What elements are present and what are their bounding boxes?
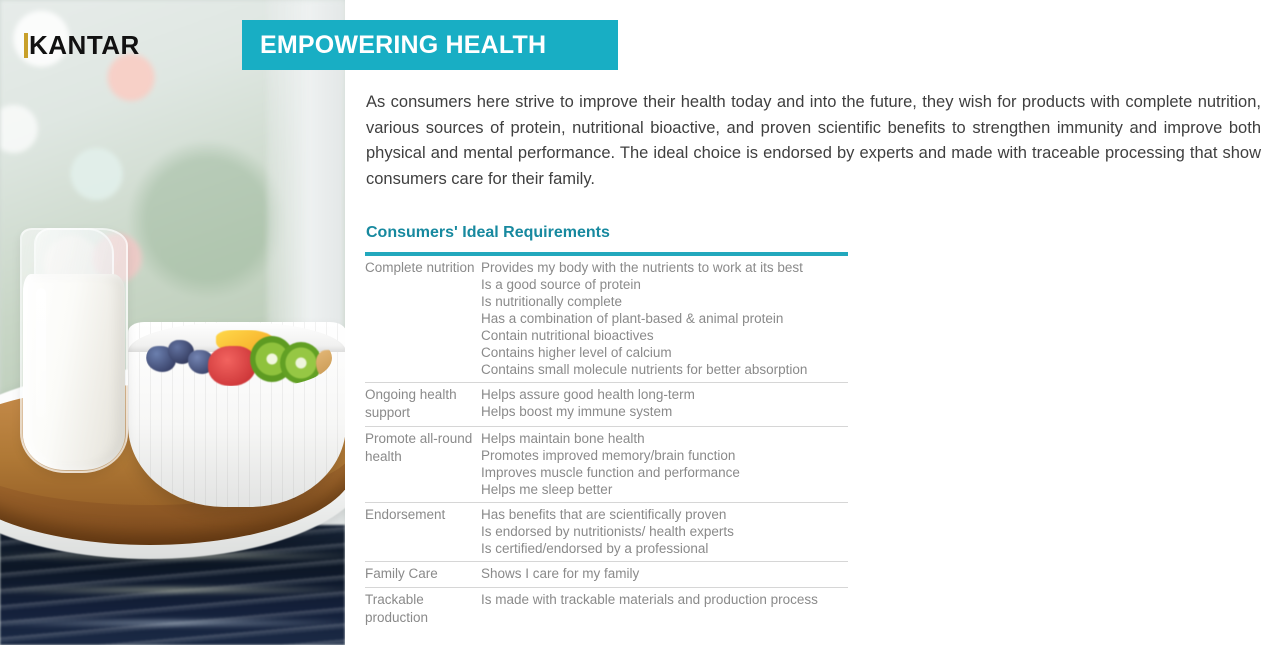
- strawberry-icon: [208, 346, 256, 386]
- row-items: Helps assure good health long-termHelps …: [481, 386, 848, 422]
- row-category: Endorsement: [365, 506, 481, 557]
- list-item: Is nutritionally complete: [481, 293, 848, 310]
- hero-photo: [0, 0, 345, 645]
- row-items: Has benefits that are scientifically pro…: [481, 506, 848, 557]
- table-row: EndorsementHas benefits that are scienti…: [365, 503, 848, 562]
- list-item: Helps assure good health long-term: [481, 386, 848, 403]
- table-row: Ongoing health supportHelps assure good …: [365, 383, 848, 427]
- list-item: Promotes improved memory/brain function: [481, 447, 848, 464]
- list-item: Provides my body with the nutrients to w…: [481, 259, 848, 276]
- table-row: Promote all-round healthHelps maintain b…: [365, 427, 848, 503]
- list-item: Contains higher level of calcium: [481, 344, 848, 361]
- granola-icon: [316, 350, 332, 380]
- list-item: Helps me sleep better: [481, 481, 848, 498]
- carafe-highlight: [36, 288, 46, 418]
- row-items: Helps maintain bone healthPromotes impro…: [481, 430, 848, 498]
- list-item: Contains small molecule nutrients for be…: [481, 361, 848, 378]
- fruit-contents: [146, 330, 332, 386]
- list-item: Helps maintain bone health: [481, 430, 848, 447]
- row-category: Trackable production: [365, 591, 481, 627]
- list-item: Has benefits that are scientifically pro…: [481, 506, 848, 523]
- title-banner: EMPOWERING HEALTH: [242, 20, 618, 70]
- kantar-logo: KANTAR: [24, 30, 140, 61]
- requirements-table: Complete nutritionProvides my body with …: [365, 252, 848, 631]
- section-heading: Consumers' Ideal Requirements: [366, 224, 610, 242]
- row-category: Ongoing health support: [365, 386, 481, 422]
- slide: KANTAR EMPOWERING HEALTH As consumers he…: [0, 0, 1280, 645]
- row-items: Is made with trackable materials and pro…: [481, 591, 848, 627]
- list-item: Has a combination of plant-based & anima…: [481, 310, 848, 327]
- list-item: Helps boost my immune system: [481, 403, 848, 420]
- list-item: Is certified/endorsed by a professional: [481, 540, 848, 557]
- row-category: Family Care: [365, 565, 481, 583]
- table-row: Trackable productionIs made with trackab…: [365, 588, 848, 631]
- list-item: Is endorsed by nutritionists/ health exp…: [481, 523, 848, 540]
- row-items: Shows I care for my family: [481, 565, 848, 583]
- milk-carafe: [20, 228, 128, 473]
- list-item: Is a good source of protein: [481, 276, 848, 293]
- table-row: Complete nutritionProvides my body with …: [365, 256, 848, 383]
- fruit-bowl: [128, 322, 345, 507]
- list-item: Shows I care for my family: [481, 565, 848, 582]
- table-row: Family CareShows I care for my family: [365, 562, 848, 588]
- logo-wordmark: KANTAR: [29, 30, 140, 61]
- row-category: Complete nutrition: [365, 259, 481, 378]
- list-item: Improves muscle function and performance: [481, 464, 848, 481]
- page-title: EMPOWERING HEALTH: [242, 31, 546, 60]
- row-items: Provides my body with the nutrients to w…: [481, 259, 848, 378]
- list-item: Contain nutritional bioactives: [481, 327, 848, 344]
- row-category: Promote all-round health: [365, 430, 481, 498]
- list-item: Is made with trackable materials and pro…: [481, 591, 848, 608]
- intro-paragraph: As consumers here strive to improve thei…: [366, 90, 1261, 192]
- logo-accent-bar: [24, 33, 28, 58]
